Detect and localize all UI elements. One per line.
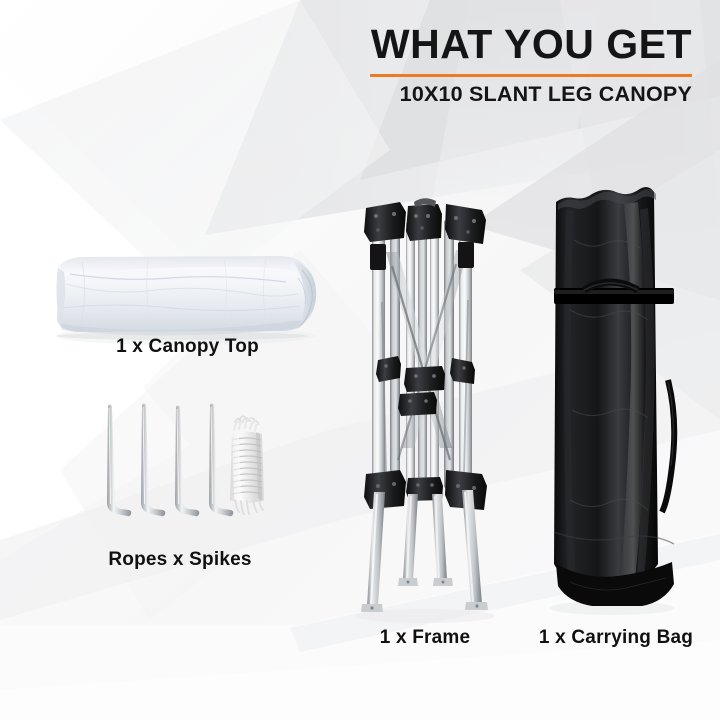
frame-mid-joint bbox=[404, 366, 445, 392]
leg-bracket bbox=[364, 470, 406, 509]
canopy-top-image bbox=[52, 248, 320, 340]
carrying-bag-image bbox=[540, 180, 688, 612]
frame-leg bbox=[361, 492, 385, 612]
frame-image bbox=[356, 192, 496, 620]
caption-carrying-bag: 1 x Carrying Bag bbox=[512, 627, 720, 649]
frame-mid-joint bbox=[450, 358, 475, 384]
stake bbox=[175, 406, 199, 517]
stake bbox=[141, 404, 165, 517]
frame-mid-joint bbox=[376, 356, 401, 382]
stake bbox=[209, 404, 233, 517]
ropes-and-spikes-image bbox=[98, 400, 268, 540]
caption-canopy-top: 1 x Canopy Top bbox=[0, 336, 375, 358]
coiled-rope bbox=[230, 416, 264, 514]
frame-leg bbox=[398, 494, 418, 586]
frame-top-bracket bbox=[445, 204, 486, 244]
frame-lower-joint bbox=[398, 392, 437, 416]
infographic-canvas: WHAT YOU GET 10X10 SLANT LEG CANOPY bbox=[0, 0, 720, 720]
accent-divider bbox=[370, 74, 692, 77]
caption-frame: 1 x Frame bbox=[330, 627, 520, 649]
stake bbox=[107, 405, 131, 517]
page-subtitle: 10X10 SLANT LEG CANOPY bbox=[370, 84, 692, 106]
page-title: WHAT YOU GET bbox=[370, 24, 692, 65]
header: WHAT YOU GET 10X10 SLANT LEG CANOPY bbox=[370, 24, 692, 106]
frame-top-bracket bbox=[364, 202, 406, 242]
frame-top-bracket bbox=[406, 204, 442, 241]
caption-ropes-spikes: Ropes x Spikes bbox=[20, 549, 340, 571]
frame-leg bbox=[432, 494, 453, 586]
